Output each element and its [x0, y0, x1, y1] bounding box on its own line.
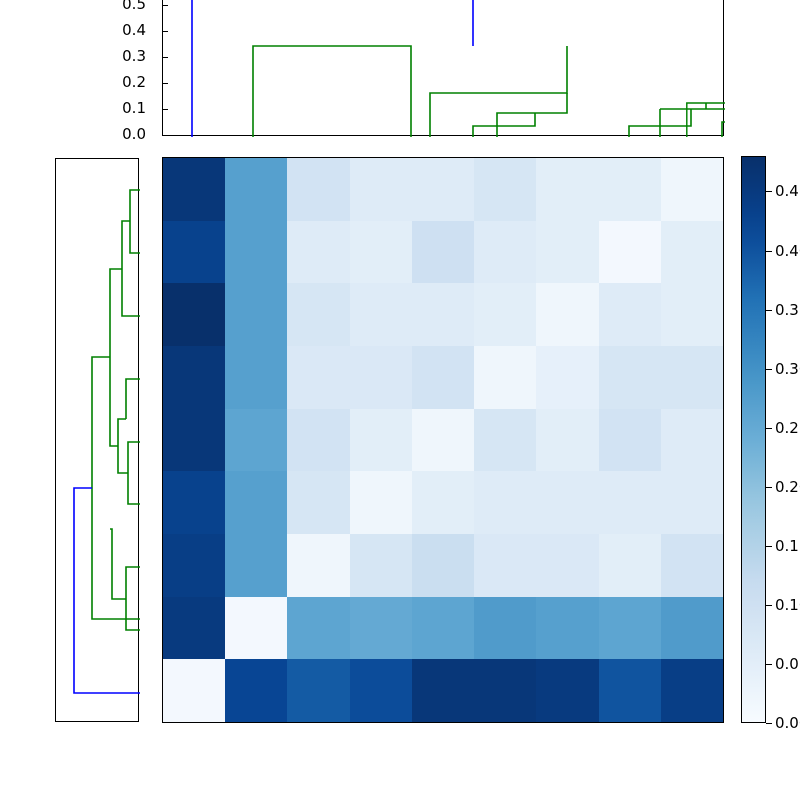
row-dendrogram-links — [56, 159, 140, 723]
heatmap-cell — [599, 659, 661, 722]
heatmap-cell — [536, 659, 598, 722]
heatmap-cell — [287, 221, 349, 284]
heatmap-cell — [225, 283, 287, 346]
colorbar-tick-label: 0.45 — [775, 184, 800, 199]
col-axis-tick-label: 0.2 — [122, 75, 146, 90]
heatmap-cell — [287, 471, 349, 534]
heatmap-cell — [661, 158, 723, 221]
colorbar-tickmark — [766, 191, 772, 192]
colorbar-tickmark — [766, 310, 772, 311]
heatmap-cell — [661, 471, 723, 534]
colorbar-tickmark — [766, 251, 772, 252]
heatmap-cell — [163, 597, 225, 660]
heatmap-cell — [536, 283, 598, 346]
heatmap-cell — [474, 346, 536, 409]
heatmap-cell — [225, 471, 287, 534]
heatmap-cell — [536, 534, 598, 597]
heatmap-cell — [661, 221, 723, 284]
heatmap-cell — [350, 346, 412, 409]
heatmap-cell — [536, 158, 598, 221]
heatmap-cell — [412, 597, 474, 660]
colorbar-tick-label: 0.05 — [775, 657, 800, 672]
heatmap — [162, 157, 724, 723]
heatmap-cell — [599, 534, 661, 597]
heatmap-cell — [225, 597, 287, 660]
colorbar-tick-label: 0.15 — [775, 539, 800, 554]
col-axis-tickmark — [162, 5, 168, 6]
heatmap-cell — [536, 597, 598, 660]
heatmap-cell — [287, 409, 349, 472]
heatmap-cell — [350, 659, 412, 722]
heatmap-cell — [163, 158, 225, 221]
heatmap-cell — [350, 158, 412, 221]
col-axis-tick-label: 0.1 — [122, 101, 146, 116]
heatmap-cell — [536, 346, 598, 409]
heatmap-cell — [474, 659, 536, 722]
heatmap-cell — [412, 221, 474, 284]
colorbar-tick-label: 0.10 — [775, 598, 800, 613]
heatmap-cell — [287, 659, 349, 722]
col-axis-tick-label: 0.3 — [122, 49, 146, 64]
heatmap-cell — [412, 659, 474, 722]
heatmap-cell — [163, 471, 225, 534]
heatmap-cell — [287, 597, 349, 660]
colorbar-tickmark — [766, 428, 772, 429]
heatmap-cell — [536, 409, 598, 472]
heatmap-cell — [350, 597, 412, 660]
heatmap-cell — [412, 534, 474, 597]
heatmap-cell — [599, 283, 661, 346]
colorbar-tick-label: 0.25 — [775, 421, 800, 436]
heatmap-cell — [474, 221, 536, 284]
heatmap-cell — [350, 409, 412, 472]
heatmap-cell — [599, 409, 661, 472]
heatmap-cell — [661, 534, 723, 597]
colorbar-tickmark — [766, 546, 772, 547]
heatmap-cell — [412, 409, 474, 472]
column-dendrogram — [162, 0, 724, 136]
heatmap-cell — [412, 158, 474, 221]
heatmap-cell — [287, 283, 349, 346]
colorbar-gradient — [742, 157, 765, 722]
col-axis-tickmark — [162, 57, 168, 58]
heatmap-cell — [350, 221, 412, 284]
heatmap-cell — [661, 346, 723, 409]
colorbar-tickmark — [766, 487, 772, 488]
col-axis-tickmark — [162, 31, 168, 32]
heatmap-grid — [163, 158, 723, 722]
heatmap-cell — [474, 471, 536, 534]
heatmap-cell — [474, 409, 536, 472]
column-dendrogram-axis: 0.5 0.4 0.3 0.2 0.1 0.0 — [98, 0, 156, 140]
heatmap-cell — [412, 346, 474, 409]
heatmap-cell — [350, 471, 412, 534]
colorbar-tick-label: 0.40 — [775, 244, 800, 259]
col-axis-tick-label: 0.4 — [122, 23, 146, 38]
colorbar-tickmark — [766, 664, 772, 665]
heatmap-cell — [163, 659, 225, 722]
heatmap-cell — [287, 158, 349, 221]
heatmap-cell — [287, 534, 349, 597]
heatmap-cell — [412, 471, 474, 534]
heatmap-cell — [163, 221, 225, 284]
heatmap-cell — [225, 346, 287, 409]
heatmap-cell — [163, 346, 225, 409]
colorbar-tick-label: 0.00 — [775, 716, 800, 731]
heatmap-cell — [225, 534, 287, 597]
colorbar-tickmark — [766, 605, 772, 606]
heatmap-cell — [661, 659, 723, 722]
heatmap-cell — [599, 158, 661, 221]
heatmap-cell — [599, 346, 661, 409]
heatmap-cell — [599, 597, 661, 660]
heatmap-cell — [474, 283, 536, 346]
heatmap-cell — [412, 283, 474, 346]
heatmap-cell — [474, 597, 536, 660]
colorbar-tick-label: 0.35 — [775, 303, 800, 318]
heatmap-cell — [225, 659, 287, 722]
colorbar — [741, 156, 766, 723]
heatmap-cell — [536, 471, 598, 534]
colorbar-tick-label: 0.20 — [775, 480, 800, 495]
heatmap-cell — [287, 346, 349, 409]
heatmap-cell — [225, 409, 287, 472]
heatmap-cell — [225, 158, 287, 221]
heatmap-cell — [225, 221, 287, 284]
heatmap-cell — [350, 534, 412, 597]
heatmap-cell — [536, 221, 598, 284]
heatmap-cell — [163, 283, 225, 346]
heatmap-cell — [661, 409, 723, 472]
col-axis-tick-label: 0.5 — [122, 0, 146, 12]
clustermap-figure: 0.5 0.4 0.3 0.2 0.1 0.0 — [0, 0, 800, 800]
col-axis-tickmark — [162, 109, 168, 110]
colorbar-tickmark — [766, 723, 772, 724]
colorbar-axis: 0.450.400.350.300.250.200.150.100.050.00 — [766, 156, 800, 723]
heatmap-cell — [163, 534, 225, 597]
row-dendrogram — [55, 158, 139, 722]
heatmap-cell — [474, 534, 536, 597]
col-axis-tickmark — [162, 83, 168, 84]
heatmap-cell — [163, 409, 225, 472]
heatmap-cell — [474, 158, 536, 221]
heatmap-cell — [661, 597, 723, 660]
colorbar-tickmark — [766, 369, 772, 370]
heatmap-cell — [661, 283, 723, 346]
heatmap-cell — [350, 283, 412, 346]
heatmap-cell — [599, 221, 661, 284]
heatmap-cell — [599, 471, 661, 534]
column-dendrogram-links — [163, 0, 725, 137]
col-axis-tick-label: 0.0 — [122, 127, 146, 142]
colorbar-tick-label: 0.30 — [775, 362, 800, 377]
